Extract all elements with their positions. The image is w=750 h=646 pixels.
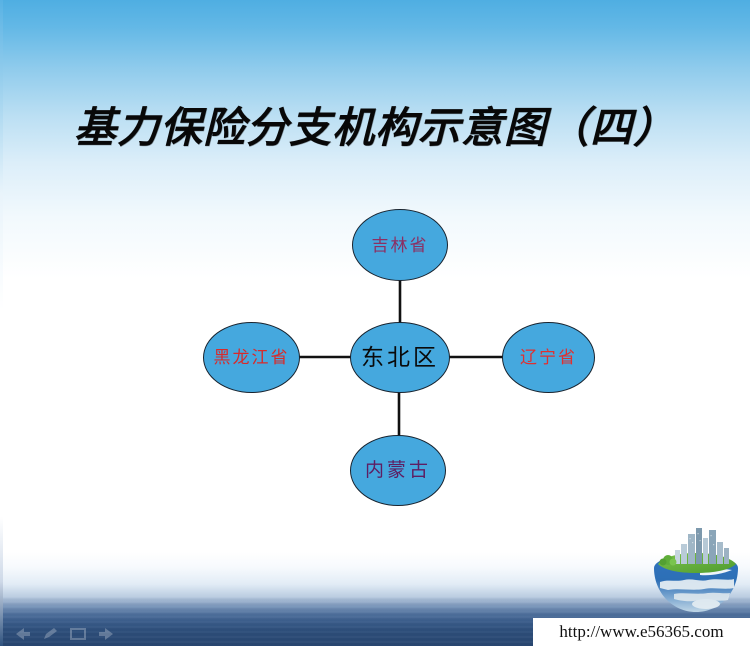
diagram-node-jilin[interactable]: 吉林省 (352, 209, 448, 281)
node-label-inner-mongolia: 内蒙古 (365, 461, 431, 480)
forward-arrow-icon[interactable] (97, 626, 117, 642)
slideshow-nav-icons[interactable] (12, 624, 127, 644)
diagram-node-northeast-region[interactable]: 东北区 (350, 322, 450, 393)
pen-icon[interactable] (41, 626, 59, 642)
node-label-liaoning: 辽宁省 (520, 349, 577, 366)
diagram-node-inner-mongolia[interactable]: 内蒙古 (350, 435, 446, 506)
node-label-heilongjiang: 黑龙江省 (214, 349, 290, 366)
diagram-node-heilongjiang[interactable]: 黑龙江省 (203, 322, 300, 393)
presentation-slide: 基力保险分支机构示意图（四） 吉林省 黑龙江省 东北区 辽宁省 内蒙古 (0, 0, 750, 646)
diagram-node-liaoning[interactable]: 辽宁省 (502, 322, 595, 393)
node-label-northeast-region: 东北区 (361, 346, 439, 369)
slide-icon[interactable] (68, 626, 88, 642)
org-structure-diagram: 吉林省 黑龙江省 东北区 辽宁省 内蒙古 (0, 0, 750, 646)
watermark-url: http://www.e56365.com (533, 618, 750, 646)
node-label-jilin: 吉林省 (372, 237, 429, 254)
connector-lines (0, 0, 750, 646)
back-arrow-icon[interactable] (12, 626, 32, 642)
